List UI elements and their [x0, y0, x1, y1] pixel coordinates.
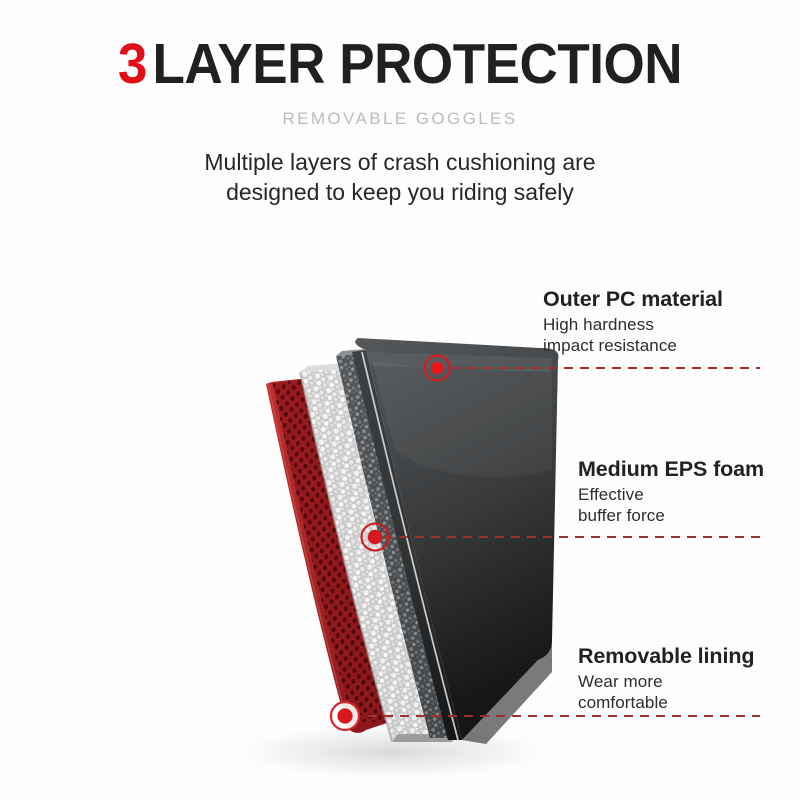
drop-shadow [217, 722, 567, 782]
callout-subtitle-line-1: Effective [578, 485, 764, 506]
page-subtitle: REMOVABLE GOGGLES [0, 109, 800, 129]
callout-subtitle-line-2: comfortable [578, 693, 754, 714]
page-description: Multiple layers of crash cushioning are … [0, 147, 800, 208]
marker-outer-pc[interactable] [425, 356, 450, 381]
callout-title: Outer PC material [543, 287, 723, 312]
callout-subtitle: High hardness impact resistance [543, 315, 723, 356]
callout-subtitle-line-1: Wear more [578, 672, 754, 693]
callout-title: Removable lining [578, 644, 754, 669]
marker-eps-foam[interactable] [362, 524, 389, 551]
callout-title: Medium EPS foam [578, 457, 764, 482]
title-number: 3 [118, 32, 147, 96]
callout-medium-eps-foam: Medium EPS foam Effective buffer force [578, 457, 764, 526]
page-title: 3LAYER PROTECTION [28, 36, 772, 93]
description-line-1: Multiple layers of crash cushioning are [204, 149, 595, 175]
layer-eps-foam-dark-edge [336, 349, 458, 738]
layer-removable-lining [266, 378, 390, 733]
layer-outer-pc-shell [352, 338, 558, 744]
callout-outer-pc-material: Outer PC material High hardness impact r… [543, 287, 723, 356]
callout-subtitle-line-2: buffer force [578, 506, 764, 527]
callout-removable-lining: Removable lining Wear more comfortable [578, 644, 754, 713]
description-line-2: designed to keep you riding safely [0, 177, 800, 207]
header: 3LAYER PROTECTION REMOVABLE GOGGLES Mult… [0, 36, 800, 208]
infographic-page: 3LAYER PROTECTION REMOVABLE GOGGLES Mult… [0, 0, 800, 800]
callout-subtitle-line-2: impact resistance [543, 336, 723, 357]
layer-eps-foam [300, 362, 458, 742]
title-text: LAYER PROTECTION [152, 32, 682, 96]
callout-subtitle-line-1: High hardness [543, 315, 723, 336]
marker-removable-lining[interactable] [331, 702, 359, 730]
callout-subtitle: Effective buffer force [578, 485, 764, 526]
callout-subtitle: Wear more comfortable [578, 672, 754, 713]
